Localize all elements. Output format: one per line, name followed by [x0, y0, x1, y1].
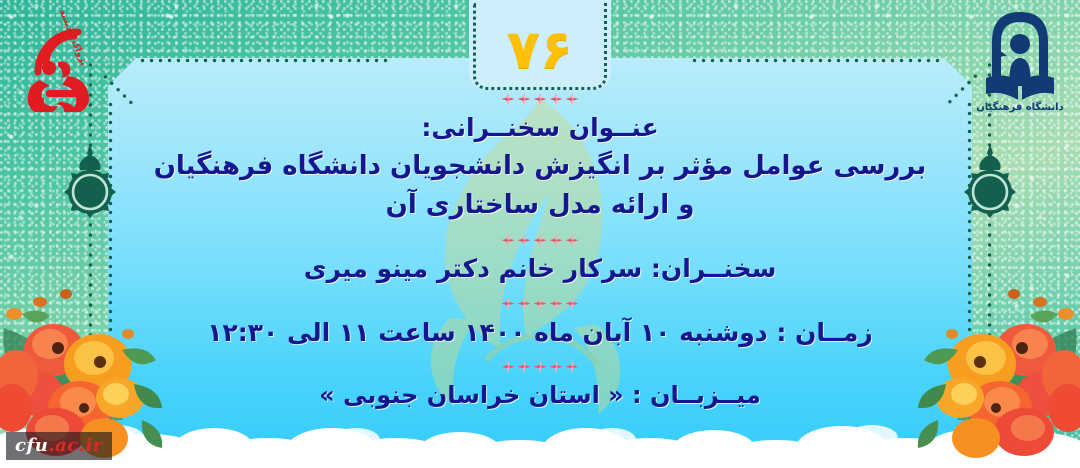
diamond-ornament-icon [550, 297, 563, 310]
diamond-ornament-icon [518, 93, 531, 106]
diamond-ornament-icon [550, 234, 563, 247]
webinar-poster: ۷۶ [0, 0, 1080, 468]
lecture-title-line2: و ارائه مدل ساختاری آن [386, 189, 695, 222]
url-part-domain: .ac.ir [48, 435, 102, 456]
lecture-title-line1: بررسی عوامل مؤثر بر انگیزش دانشجویان دان… [154, 150, 927, 183]
diamond-ornament-icon [566, 360, 579, 373]
diamond-ornament-icon [518, 360, 531, 373]
diamond-ornament-icon [550, 360, 563, 373]
host-line: میــزبــان : « استان خراسان جنوبی » [319, 380, 761, 410]
diamond-ornament-icon [566, 93, 579, 106]
diamond-ornament-icon [566, 297, 579, 310]
farhangian-university-logo: دانشگاه فرهنگیان [972, 4, 1068, 118]
diamond-ornament-icon [502, 93, 515, 106]
ornamental-medallion-icon-left [62, 140, 118, 240]
diamond-ornament-icon [518, 297, 531, 310]
ornament-divider-3 [502, 297, 579, 311]
ornament-divider-4 [502, 360, 579, 374]
pajouheshi-logo: پژواک اندیشه [16, 6, 112, 116]
diamond-ornament-icon [518, 234, 531, 247]
diamond-ornament-icon [502, 360, 515, 373]
diamond-ornament-icon [534, 234, 547, 247]
ornament-divider-1 [502, 92, 579, 106]
poster-content: عنــوان سخنــرانی: بررسی عوامل مؤثر بر ا… [120, 78, 960, 438]
datetime-line: زمــان : دوشنبه ۱۰ آبان ماه ۱۴۰۰ ساعت ۱۱… [207, 317, 873, 348]
diamond-ornament-icon [550, 93, 563, 106]
diamond-ornament-icon [502, 234, 515, 247]
session-number: ۷۶ [507, 23, 573, 77]
url-part-cfu: cfu [15, 435, 48, 456]
diamond-ornament-icon [534, 93, 547, 106]
session-number-badge: ۷۶ [469, 0, 611, 90]
farhangian-logo-caption: دانشگاه فرهنگیان [976, 100, 1063, 113]
ornament-divider-2 [502, 233, 579, 247]
diamond-ornament-icon [534, 360, 547, 373]
lecture-title-label: عنــوان سخنــرانی: [421, 112, 658, 143]
diamond-ornament-icon [502, 297, 515, 310]
diamond-ornament-icon [534, 297, 547, 310]
ornamental-medallion-icon-right [962, 140, 1018, 240]
diamond-ornament-icon [566, 234, 579, 247]
speaker-line: سخنــران: سرکار خانم دکتر مینو میری [304, 253, 777, 284]
site-url-watermark: cfu.ac.ir [6, 432, 112, 460]
